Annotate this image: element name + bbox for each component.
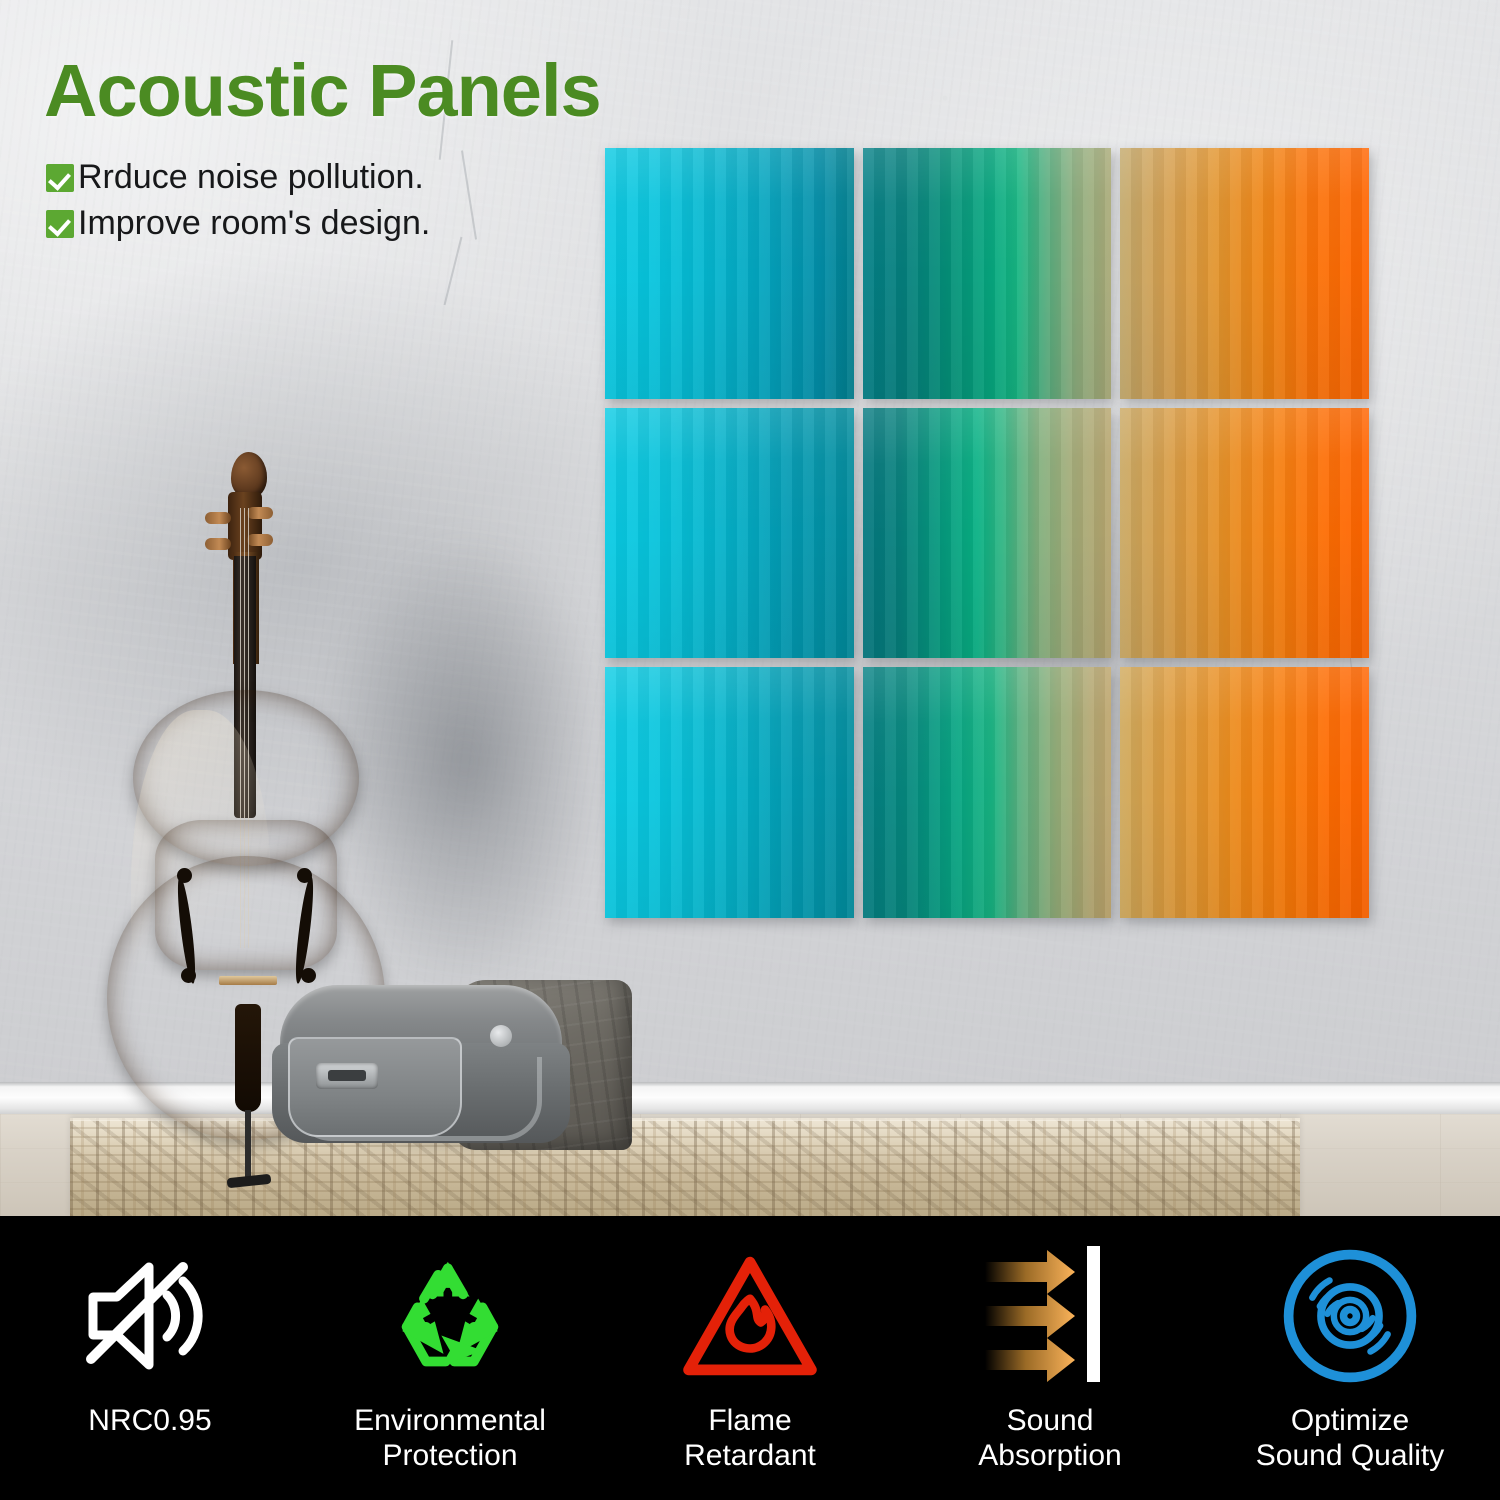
panel-sheen [1120, 148, 1369, 399]
feature-sound-absorption: Sound Absorption [904, 1230, 1196, 1474]
feature-optimize-sound: Optimize Sound Quality [1204, 1230, 1496, 1474]
cello-bridge [219, 976, 277, 985]
panel-sheen [605, 408, 854, 659]
panel-sheen [863, 667, 1112, 918]
feature-nrc: NRC0.95 [4, 1230, 296, 1439]
bullet-item: Rrduce noise pollution. [46, 158, 430, 197]
product-infographic: Acoustic Panels Rrduce noise pollution. … [0, 0, 1500, 1500]
feature-label: Environmental Protection [354, 1404, 546, 1474]
feature-label: Optimize Sound Quality [1256, 1404, 1444, 1474]
feature-label-line2: Absorption [978, 1439, 1121, 1474]
instrument-case [272, 985, 572, 1145]
room-scene: Acoustic Panels Rrduce noise pollution. … [0, 0, 1500, 1216]
feature-label-line2: Retardant [684, 1439, 816, 1474]
acoustic-panel-r2c3 [1120, 408, 1369, 659]
panel-sheen [863, 408, 1112, 659]
feature-label: Flame Retardant [684, 1404, 816, 1474]
recycle-icon [380, 1230, 520, 1402]
bullet-label: Rrduce noise pollution. [78, 158, 424, 197]
feature-bullet-list: Rrduce noise pollution. Improve room's d… [46, 158, 430, 250]
feature-environmental: Environmental Protection [304, 1230, 596, 1474]
vinyl-record-icon [1280, 1230, 1420, 1402]
feature-bar: NRC0.95 [0, 1216, 1500, 1500]
f-hole-dot [181, 968, 196, 983]
case-latch [316, 1063, 378, 1089]
tuning-peg [205, 512, 231, 524]
muted-speaker-icon [75, 1230, 225, 1402]
panel-sheen [605, 148, 854, 399]
feature-label-line1: Optimize [1291, 1404, 1409, 1437]
sound-absorption-arrows-icon [975, 1230, 1125, 1402]
page-title: Acoustic Panels [44, 48, 601, 133]
tuning-peg [205, 538, 231, 550]
feature-label-line1: NRC0.95 [88, 1404, 211, 1437]
feature-label: NRC0.95 [88, 1404, 211, 1439]
f-hole-dot [177, 868, 192, 883]
acoustic-panel-r3c1 [605, 667, 854, 918]
f-hole-dot [301, 968, 316, 983]
panel-sheen [863, 148, 1112, 399]
acoustic-panel-r3c2 [863, 667, 1112, 918]
case-clip [490, 1025, 512, 1047]
panel-sheen [1120, 667, 1369, 918]
bullet-item: Improve room's design. [46, 204, 430, 243]
acoustic-panel-r3c3 [1120, 667, 1369, 918]
feature-flame-retardant: Flame Retardant [604, 1230, 896, 1474]
checkmark-icon [46, 210, 74, 238]
acoustic-panel-r2c1 [605, 408, 854, 659]
acoustic-panel-r1c2 [863, 148, 1112, 399]
checkmark-icon [46, 164, 74, 192]
flame-warning-icon [680, 1230, 820, 1402]
f-hole-dot [297, 868, 312, 883]
feature-label-line1: Sound [1007, 1404, 1094, 1437]
panel-sheen [1120, 408, 1369, 659]
panel-sheen [605, 667, 854, 918]
bullet-label: Improve room's design. [78, 204, 430, 243]
feature-label-line2: Protection [354, 1439, 546, 1474]
acoustic-panel-r2c2 [863, 408, 1112, 659]
feature-label-line1: Flame [708, 1404, 791, 1437]
feature-label-line2: Sound Quality [1256, 1439, 1444, 1474]
feature-label-line1: Environmental [354, 1404, 546, 1437]
acoustic-panel-r1c1 [605, 148, 854, 399]
acoustic-panel-r1c3 [1120, 148, 1369, 399]
feature-label: Sound Absorption [978, 1404, 1121, 1474]
acoustic-panel-grid [605, 148, 1369, 918]
